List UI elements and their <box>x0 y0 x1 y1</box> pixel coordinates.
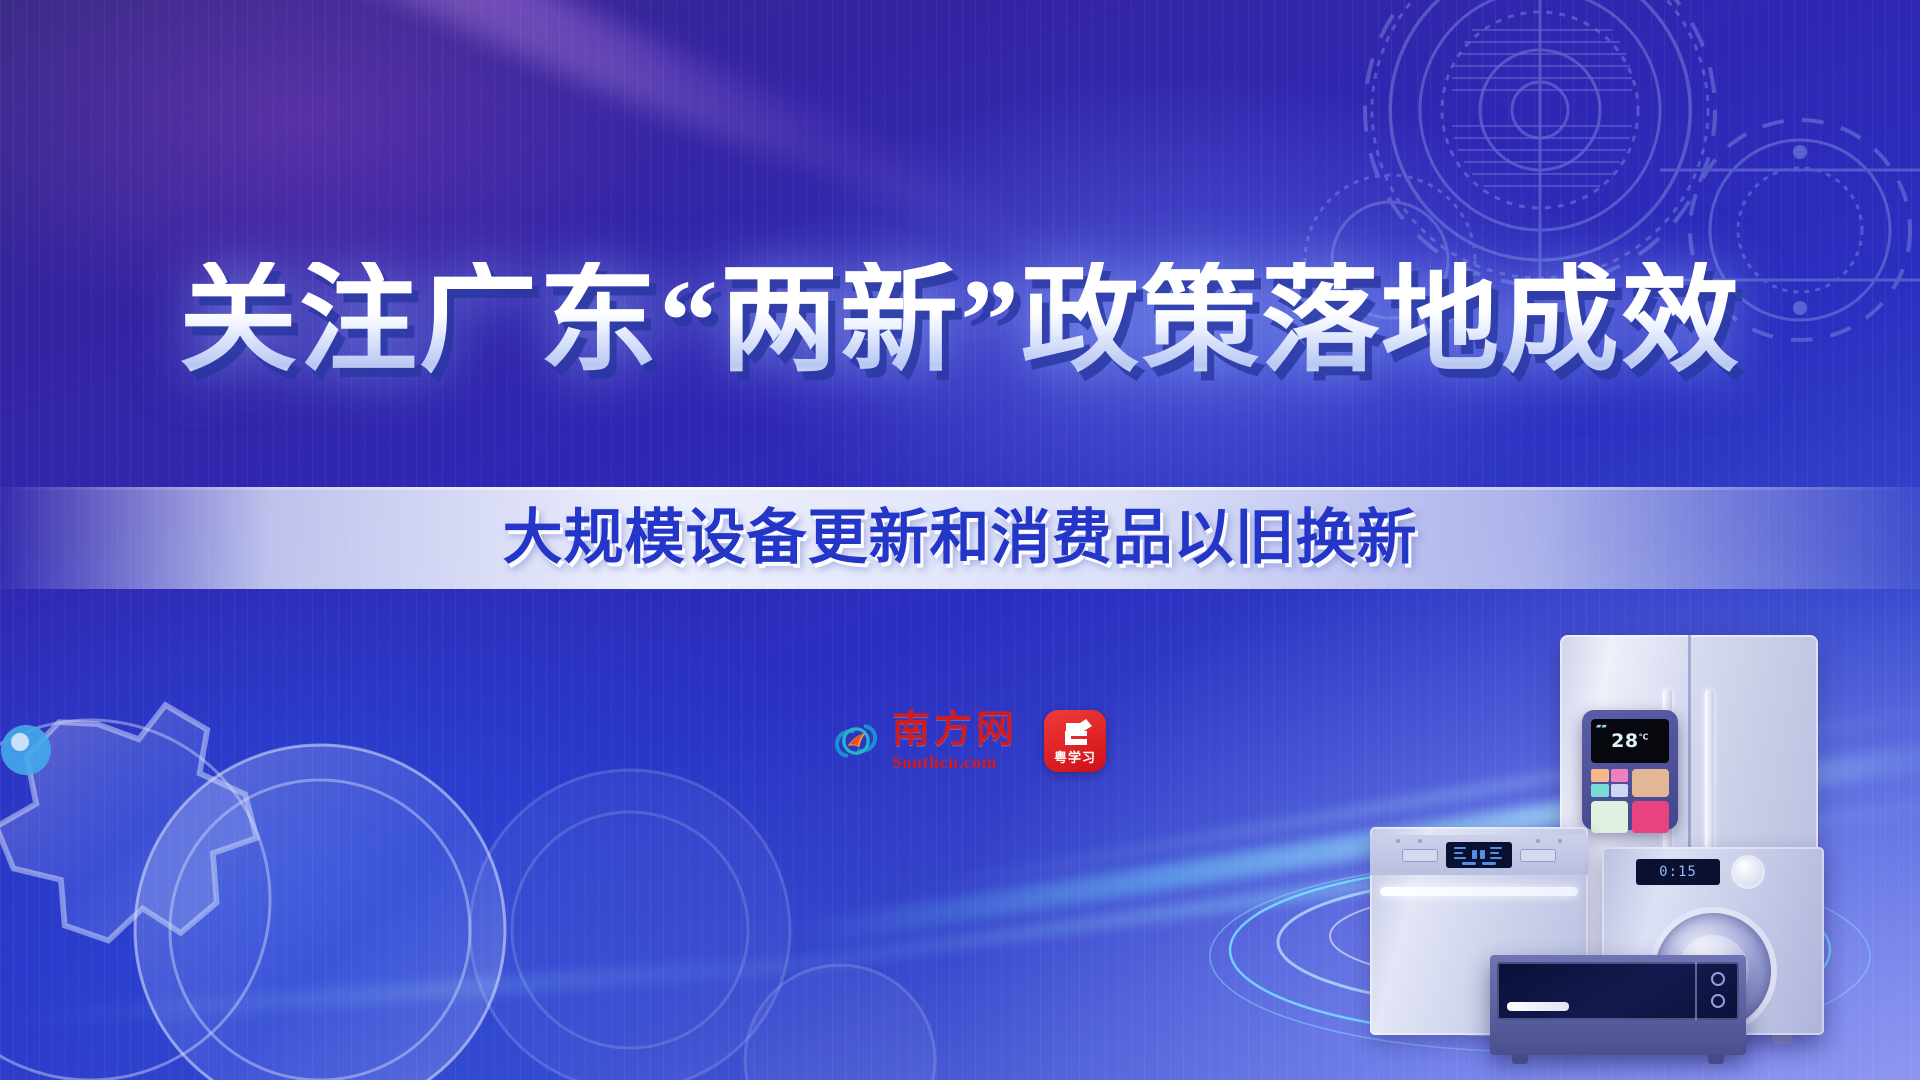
southcn-en-label: Southcn.com <box>892 753 997 771</box>
promo-banner: 关注广东“两新”政策落地成效 大规模设备更新和消费品以旧换新 南方网 South… <box>0 0 1920 1080</box>
appliance-illustration: ▰▰ 28℃ <box>1370 635 1920 1080</box>
gear-icon <box>0 600 670 1080</box>
tile-pink[interactable] <box>1632 801 1669 833</box>
microwave-door[interactable] <box>1497 962 1739 1020</box>
microwave-control-side[interactable] <box>1695 962 1739 1020</box>
title-area: 关注广东“两新”政策落地成效 <box>0 262 1920 380</box>
fridge-temperature: 28℃ <box>1611 730 1649 752</box>
fridge-smart-panel[interactable]: ▰▰ 28℃ <box>1582 710 1678 830</box>
logo-group: 南方网 Southcn.com 粤学习 <box>830 710 1106 772</box>
tile-mint[interactable] <box>1591 801 1628 833</box>
southcn-cn-label: 南方网 <box>892 711 1018 749</box>
light-streak-icon <box>0 0 1046 241</box>
tile-peach[interactable] <box>1632 769 1669 797</box>
dishwasher-control-panel[interactable] <box>1370 835 1588 875</box>
washer-display: 0:15 <box>1636 859 1720 885</box>
dishwasher-light-strip <box>1380 887 1578 896</box>
tile-quad[interactable] <box>1591 769 1628 797</box>
subtitle-band: 大规模设备更新和消费品以旧换新 <box>0 487 1920 589</box>
fridge-screen: ▰▰ 28℃ <box>1591 719 1669 763</box>
light-streak-icon <box>0 0 823 186</box>
microwave-handle[interactable] <box>1507 1002 1569 1011</box>
dishwasher-display <box>1446 842 1512 868</box>
washer-dial[interactable] <box>1734 858 1762 886</box>
southcn-mark-icon <box>830 715 882 767</box>
fridge-app-tiles[interactable] <box>1591 769 1669 833</box>
fridge-foot <box>1772 1034 1792 1044</box>
light-ribbon-icon <box>0 949 899 1030</box>
banner-title: 关注广东“两新”政策落地成效 <box>179 262 1741 380</box>
microwave-oven <box>1490 955 1746 1055</box>
southcn-logo[interactable]: 南方网 Southcn.com <box>830 711 1018 771</box>
dishwasher-button-left[interactable] <box>1402 849 1438 862</box>
yuexuexi-app-logo[interactable]: 粤学习 <box>1044 710 1106 772</box>
dishwasher-button-right[interactable] <box>1520 849 1556 862</box>
light-streak-icon <box>153 0 1086 273</box>
book-lamp-icon <box>1044 717 1106 751</box>
wifi-icon: ▰▰ <box>1596 722 1607 730</box>
banner-subtitle: 大规模设备更新和消费品以旧换新 <box>503 508 1418 568</box>
washer-remaining-time: 0:15 <box>1659 864 1697 880</box>
